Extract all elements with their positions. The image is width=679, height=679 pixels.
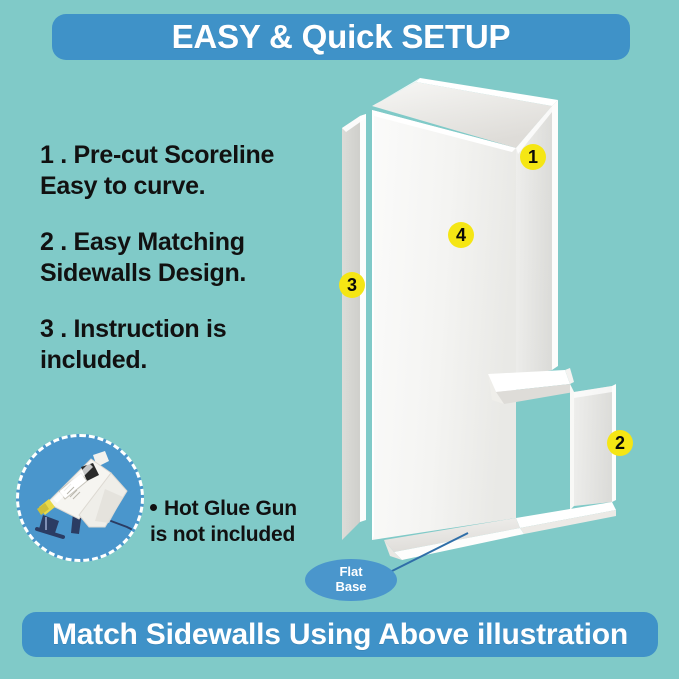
feature-list: 1 . Pre-cut Scoreline Easy to curve. 2 .… bbox=[40, 140, 330, 401]
infographic-page: EASY & Quick SETUP 1 . Pre-cut Scoreline… bbox=[0, 0, 679, 679]
badge-number-4: 4 bbox=[448, 222, 474, 248]
flat-base-callout: Flat Base bbox=[305, 559, 397, 601]
feature-2-line-1: 2 . Easy Matching bbox=[40, 227, 330, 258]
glue-gun-badge-circle bbox=[16, 434, 144, 562]
feature-item-1: 1 . Pre-cut Scoreline Easy to curve. bbox=[40, 140, 330, 201]
hot-glue-gun-icon bbox=[19, 437, 147, 565]
flat-base-line-2: Base bbox=[335, 580, 366, 595]
glue-note-line-1-wrap: Hot Glue Gun bbox=[150, 496, 340, 522]
flat-base-line-1: Flat bbox=[339, 565, 362, 580]
left-sidewall-panel bbox=[342, 114, 366, 540]
feature-item-2: 2 . Easy Matching Sidewalls Design. bbox=[40, 227, 330, 288]
badge-number-3: 3 bbox=[339, 272, 365, 298]
feature-3-line-1: 3 . Instruction is bbox=[40, 314, 330, 345]
feature-1-line-2: Easy to curve. bbox=[40, 171, 330, 202]
glue-note-line-2: is not included bbox=[150, 522, 340, 548]
feature-3-line-2: included. bbox=[40, 345, 330, 376]
product-illustration bbox=[320, 70, 679, 570]
glue-note-line-1: Hot Glue Gun bbox=[164, 497, 297, 520]
right-sidewall-panel bbox=[516, 100, 558, 378]
badge-number-2: 2 bbox=[607, 430, 633, 456]
feature-1-line-1: 1 . Pre-cut Scoreline bbox=[40, 140, 330, 171]
feature-item-3: 3 . Instruction is included. bbox=[40, 314, 330, 375]
bullet-dot-icon bbox=[150, 504, 157, 511]
glue-gun-note: Hot Glue Gun is not included bbox=[150, 496, 340, 549]
middle-shelf-panel bbox=[488, 368, 574, 404]
badge-number-1: 1 bbox=[520, 144, 546, 170]
back-panel bbox=[372, 110, 516, 540]
bottom-banner-title: Match Sidewalls Using Above illustration bbox=[22, 612, 658, 657]
top-banner-title: EASY & Quick SETUP bbox=[52, 14, 630, 60]
feature-2-line-2: Sidewalls Design. bbox=[40, 258, 330, 289]
